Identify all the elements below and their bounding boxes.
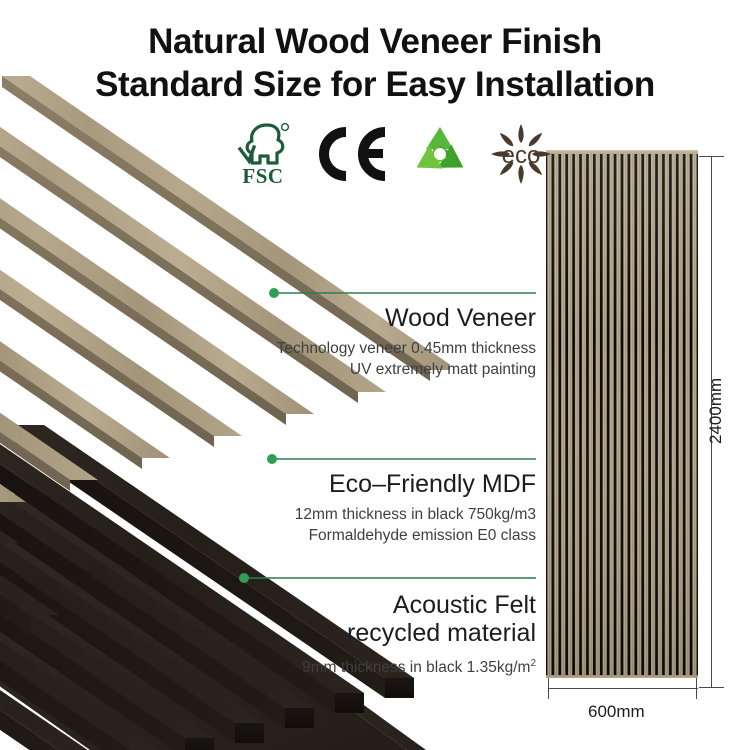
mdf-leader-dot	[267, 454, 277, 464]
callout-sub1-text: 9mm thickness in black 1.35kg/m	[302, 659, 530, 676]
height-dimension-label: 2400mm	[706, 378, 726, 444]
callout-title-wood-veneer: Wood Veneer	[268, 304, 536, 332]
certification-badges: FSC	[232, 118, 552, 190]
slat-panel-group	[546, 150, 698, 678]
cert-fsc: FSC	[232, 119, 296, 189]
recycle-logo-icon	[409, 124, 471, 184]
panel-top-edge	[546, 150, 698, 154]
callout-title2-acoustic-felt: recycled material	[238, 619, 536, 647]
felt-leader-dot	[239, 573, 249, 583]
callout-sub1-acoustic-felt: 9mm thickness in black 1.35kg/m2	[238, 653, 536, 678]
eco-logo-icon: eco	[490, 123, 552, 185]
callout-sub2-eco-friendly-mdf: Formaldehyde emission E0 class	[266, 525, 536, 546]
fsc-logo-icon: FSC	[232, 119, 296, 189]
callout-sub1-wood-veneer: Technology veneer 0.45mm thickness	[268, 338, 536, 359]
felt-leader-line	[238, 571, 536, 585]
callout-acoustic-felt: Acoustic Felt recycled material 9mm thic…	[238, 571, 536, 678]
wood-veneer-leader-dot	[269, 288, 279, 298]
width-dimension-cap-right	[696, 678, 697, 699]
callout-title-acoustic-felt: Acoustic Felt	[238, 591, 536, 619]
callout-wood-veneer: Wood Veneer Technology veneer 0.45mm thi…	[268, 286, 536, 380]
wood-veneer-leader-line	[268, 286, 536, 300]
callout-title-eco-friendly-mdf: Eco–Friendly MDF	[266, 470, 536, 498]
callout-sub1-eco-friendly-mdf: 12mm thickness in black 750kg/m3	[266, 504, 536, 525]
cert-eco: eco	[490, 119, 552, 189]
panel-bottom-edge	[546, 675, 698, 678]
slat-panel	[546, 150, 698, 678]
height-dimension-cap-top	[699, 156, 724, 157]
width-dimension-label: 600mm	[588, 702, 645, 722]
callout-sub2-wood-veneer: UV extremely matt painting	[268, 359, 536, 380]
mdf-leader-line	[266, 452, 536, 466]
eco-label: eco	[502, 142, 541, 169]
callout-sub1-superscript: 2	[530, 658, 536, 669]
callout-eco-friendly-mdf: Eco–Friendly MDF 12mm thickness in black…	[266, 452, 536, 546]
slat-panel-texture	[546, 150, 698, 678]
infographic-canvas: Natural Wood Veneer Finish Standard Size…	[0, 0, 750, 750]
ce-logo-icon	[315, 126, 389, 182]
height-dimension-cap-bottom	[699, 687, 724, 688]
width-dimension-cap-left	[548, 678, 549, 699]
width-dimension-line	[548, 688, 698, 689]
cert-ce	[315, 119, 389, 189]
fsc-label: FSC	[242, 164, 283, 188]
cert-recycle	[409, 119, 471, 189]
